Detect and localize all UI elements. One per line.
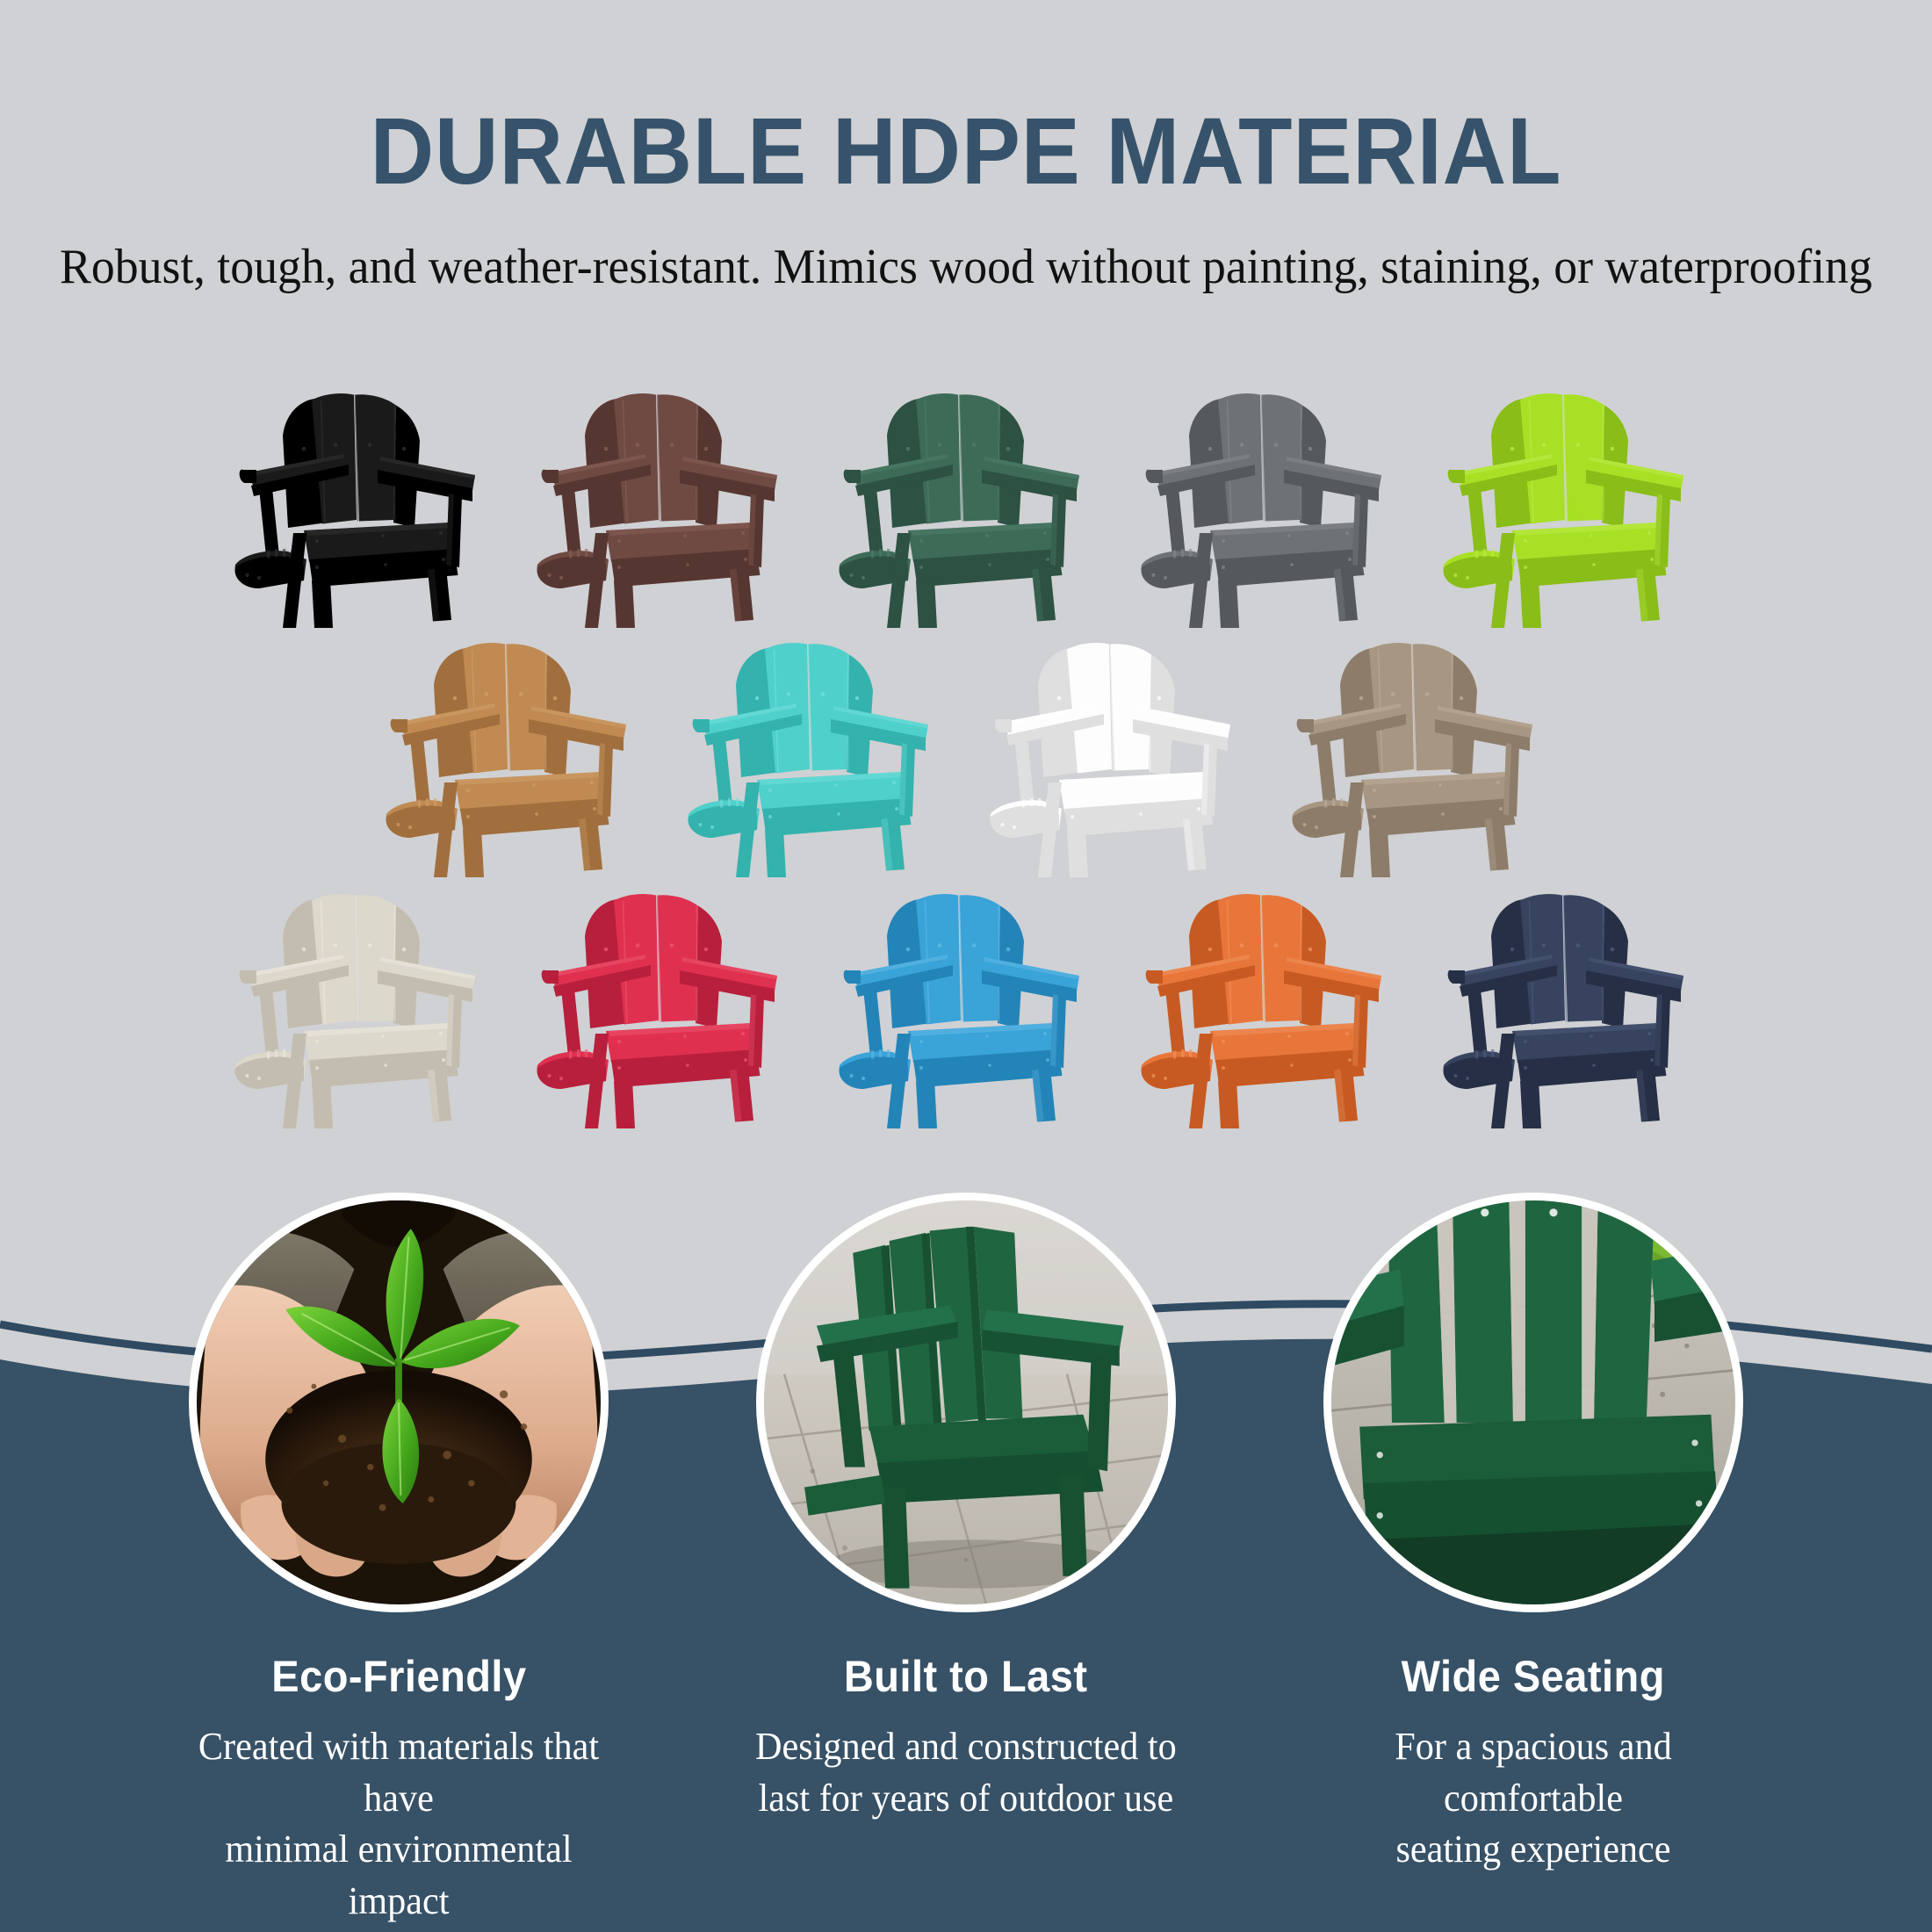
feature-description: For a spacious and comfortable seating e… bbox=[1310, 1721, 1757, 1876]
adirondack-chair-turquoise bbox=[683, 616, 947, 880]
feature-wide-seating: Wide Seating For a spacious and comforta… bbox=[1301, 1193, 1766, 1927]
adirondack-chair-ivory bbox=[230, 868, 494, 1131]
feature-description: Created with materials that have minimal… bbox=[176, 1721, 623, 1927]
green-chair-wide-seat-closeup-photo bbox=[1323, 1193, 1743, 1612]
adirondack-chair-navy bbox=[1438, 868, 1702, 1131]
chair-swatch-khaki[interactable] bbox=[1287, 616, 1551, 880]
header: DURABLE HDPE MATERIAL Robust, tough, and… bbox=[0, 0, 1932, 299]
chair-swatch-turquoise[interactable] bbox=[683, 616, 947, 880]
chair-swatch-dark-green[interactable] bbox=[834, 367, 1098, 631]
feature-built-to-last: Built to Last Designed and constructed t… bbox=[733, 1193, 1199, 1927]
feature-title: Wide Seating bbox=[1402, 1651, 1665, 1702]
chair-swatch-black[interactable] bbox=[230, 367, 494, 631]
adirondack-chair-black bbox=[230, 367, 494, 631]
chair-swatch-blue[interactable] bbox=[834, 868, 1098, 1131]
feature-title: Eco-Friendly bbox=[271, 1651, 526, 1702]
adirondack-chair-wine-brown bbox=[532, 367, 796, 631]
chair-color-grid bbox=[0, 367, 1932, 1131]
chair-swatch-red[interactable] bbox=[532, 868, 796, 1131]
chair-swatch-navy[interactable] bbox=[1438, 868, 1702, 1131]
chair-row-2 bbox=[0, 616, 1932, 880]
chair-swatch-gray[interactable] bbox=[1136, 367, 1400, 631]
page-title: DURABLE HDPE MATERIAL bbox=[68, 104, 1864, 198]
adirondack-chair-red bbox=[532, 868, 796, 1131]
chair-swatch-ivory[interactable] bbox=[230, 868, 494, 1131]
adirondack-chair-khaki bbox=[1287, 616, 1551, 880]
green-adirondack-chair-on-patio-photo bbox=[756, 1193, 1176, 1612]
chair-swatch-white[interactable] bbox=[985, 616, 1249, 880]
features-section: Eco-Friendly Created with materials that… bbox=[0, 1193, 1932, 1927]
chair-swatch-wine-brown[interactable] bbox=[532, 367, 796, 631]
chair-row-3 bbox=[0, 868, 1932, 1131]
adirondack-chair-gray bbox=[1136, 367, 1400, 631]
hands-holding-seedling-photo bbox=[189, 1193, 609, 1612]
adirondack-chair-blue bbox=[834, 868, 1098, 1131]
feature-eco-friendly: Eco-Friendly Created with materials that… bbox=[166, 1193, 631, 1927]
adirondack-chair-dark-green bbox=[834, 367, 1098, 631]
chair-swatch-orange[interactable] bbox=[1136, 868, 1400, 1131]
page-subtitle: Robust, tough, and weather-resistant. Mi… bbox=[39, 235, 1893, 299]
adirondack-chair-orange bbox=[1136, 868, 1400, 1131]
feature-title: Built to Last bbox=[844, 1651, 1088, 1702]
chair-swatch-teak[interactable] bbox=[381, 616, 645, 880]
adirondack-chair-lime-green bbox=[1438, 367, 1702, 631]
adirondack-chair-white bbox=[985, 616, 1249, 880]
feature-description: Designed and constructed to last for yea… bbox=[755, 1721, 1177, 1824]
chair-swatch-lime-green[interactable] bbox=[1438, 367, 1702, 631]
adirondack-chair-teak bbox=[381, 616, 645, 880]
chair-row-1 bbox=[0, 367, 1932, 631]
